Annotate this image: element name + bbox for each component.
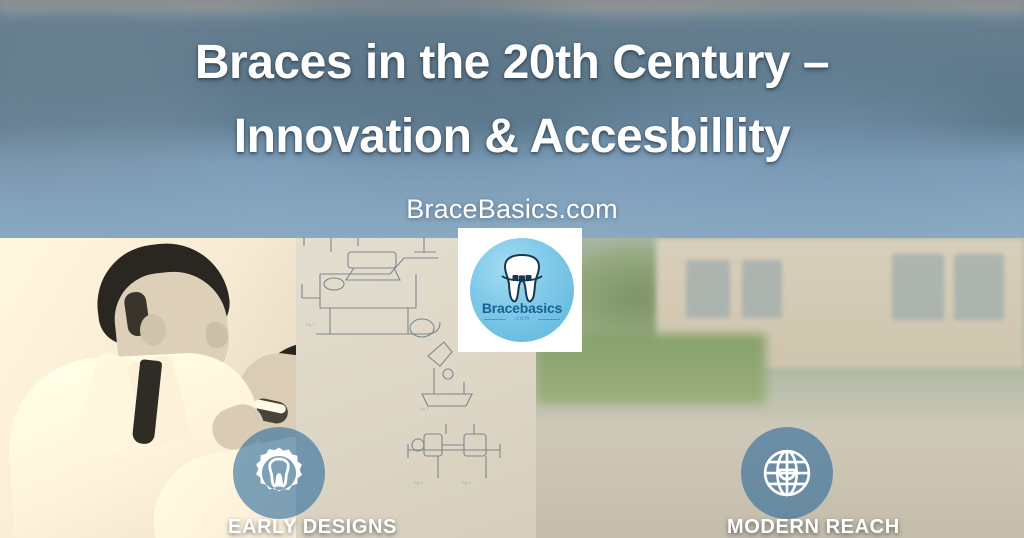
site-url-text: BraceBasics.com (0, 194, 1024, 225)
svg-text:Fig. 5: Fig. 5 (462, 481, 471, 485)
early-designs-badge (233, 427, 325, 519)
background-window (686, 260, 730, 318)
page-title: Braces in the 20th Century – Innovation … (0, 26, 1024, 174)
bracebasics-logo-card[interactable]: Bracebasics .com (458, 228, 582, 352)
background-window (954, 254, 1004, 320)
globe-smile-icon (759, 445, 815, 501)
logo-wordmark: Bracebasics (470, 300, 574, 316)
modern-reach-label: MODERN REACH (727, 516, 900, 538)
background-window (742, 260, 782, 318)
background-window (892, 254, 944, 320)
tooth-with-braces-icon (490, 252, 554, 306)
gear-tooth-icon (251, 445, 307, 501)
page-title-line-2: Innovation & Accesbillity (0, 100, 1024, 174)
page-title-line-1: Braces in the 20th Century – (0, 26, 1024, 100)
early-designs-label: EARLY DESIGNS (228, 516, 397, 538)
svg-text:Fig. 3: Fig. 3 (420, 407, 429, 411)
dentist-ear (140, 314, 166, 346)
svg-text:Fig. 2: Fig. 2 (306, 323, 315, 327)
banner-image: Braces in the 20th Century – Innovation … (0, 0, 1024, 538)
svg-text:Fig. 4: Fig. 4 (414, 481, 423, 485)
dentist-nose (206, 322, 228, 348)
logo-dotcom: .com (470, 316, 574, 322)
modern-reach-badge (741, 427, 833, 519)
logo-circle: Bracebasics .com (470, 238, 574, 342)
